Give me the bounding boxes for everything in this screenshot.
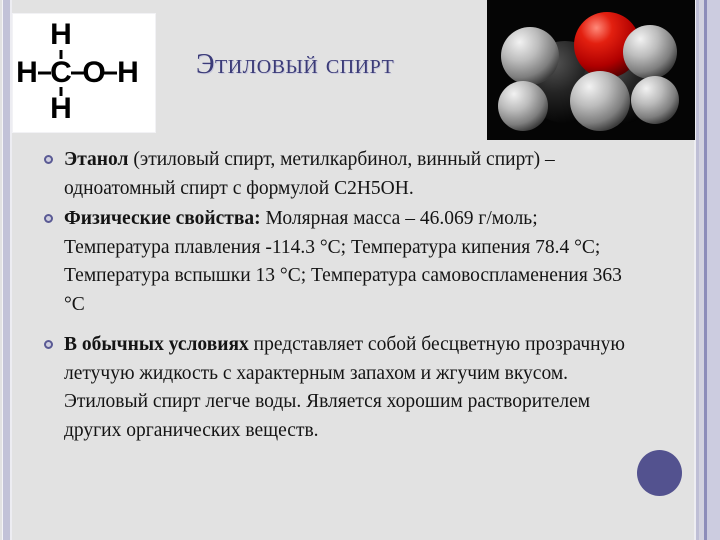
list-item: В обычных условиях представляет собой бе… (42, 331, 642, 445)
atom-hydrogen-4 (570, 71, 630, 131)
formula-atom-carbon: C (50, 56, 72, 89)
page-title: Этиловый спирт (196, 48, 486, 84)
bullet-icon (44, 214, 53, 223)
slide: H C O H H H (0, 0, 720, 540)
formula-atom-h-left: H (16, 56, 38, 89)
decorative-circle (637, 450, 682, 496)
formula-atom-h-top: H (50, 18, 72, 51)
left-stripe-band (3, 0, 10, 540)
structural-formula-image: H C O H H H (13, 14, 155, 132)
atom-hydrogen-3 (623, 25, 677, 79)
list-item-lead: Этанол (64, 149, 128, 170)
structural-formula-svg: H C O H H H (13, 14, 155, 132)
formula-atom-oxygen: O (82, 56, 105, 89)
atom-hydrogen-5 (631, 76, 679, 124)
list-item-text: (этиловый спирт, метилкарбинол, винный с… (64, 149, 555, 199)
formula-atom-h-right: H (117, 56, 139, 89)
right-stripe-fill (707, 0, 720, 540)
list-item: Этанол (этиловый спирт, метилкарбинол, в… (42, 146, 642, 203)
molecule-model-image (487, 0, 695, 140)
content-body: Этанол (этиловый спирт, метилкарбинол, в… (42, 146, 642, 447)
list-item: Физические свойства: Молярная масса – 46… (42, 205, 642, 319)
molecule-model-svg (487, 0, 695, 140)
atom-hydrogen-2 (498, 81, 548, 131)
bullet-icon (44, 155, 53, 164)
list-item-lead: В обычных условиях (64, 334, 249, 355)
formula-atom-h-bottom: H (50, 92, 72, 125)
left-stripe-edge (10, 0, 12, 540)
atom-hydrogen-1 (501, 27, 559, 85)
list-item-lead: Физические свойства: (64, 208, 261, 229)
bullet-icon (44, 340, 53, 349)
